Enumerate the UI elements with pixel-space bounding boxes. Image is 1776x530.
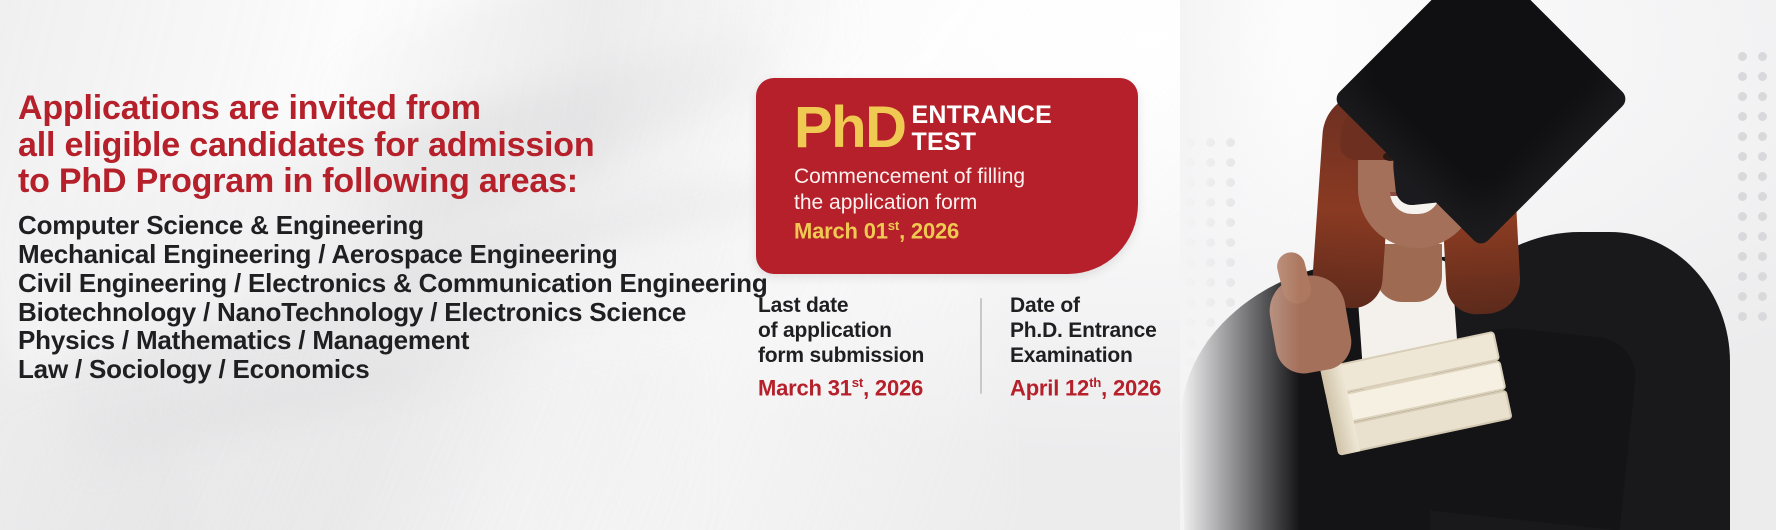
- phd-wordmark: PhD: [794, 101, 906, 154]
- headline: Applications are invited from all eligib…: [18, 90, 594, 200]
- list-item: Biotechnology / NanoTechnology / Electro…: [18, 298, 768, 327]
- list-item: Physics / Mathematics / Management: [18, 326, 768, 355]
- exam-date-text: April 12: [1010, 376, 1089, 401]
- entrance-test-label: ENTRANCE TEST: [912, 100, 1053, 155]
- neck-shape: [1376, 244, 1442, 302]
- last-date-rest: , 2026: [863, 376, 923, 401]
- list-item: Computer Science & Engineering: [18, 211, 768, 240]
- exam-date-label: Date of Ph.D. Entrance Examination: [1010, 294, 1202, 368]
- list-item: Law / Sociology / Economics: [18, 355, 768, 384]
- exam-date-ordinal: th: [1089, 375, 1101, 390]
- last-date-column: Last date of application form submission…: [758, 294, 966, 402]
- photo-edge-fade: [1180, 0, 1300, 530]
- test-label: TEST: [912, 129, 1053, 156]
- card-subtitle: Commencement of filling the application …: [756, 155, 1138, 215]
- phd-entrance-test-banner: Applications are invited from all eligib…: [0, 0, 1776, 530]
- graduate-student-photo: [1180, 0, 1776, 530]
- key-dates-row: Last date of application form submission…: [758, 294, 1202, 402]
- exam-date-rest: , 2026: [1101, 376, 1161, 401]
- list-item: Civil Engineering / Electronics & Commun…: [18, 269, 768, 298]
- last-date-text: March 31: [758, 376, 852, 401]
- program-areas-list: Computer Science & Engineering Mechanica…: [18, 211, 768, 384]
- card-title-row: PhD ENTRANCE TEST: [756, 78, 1138, 155]
- last-date-value: March 31st, 2026: [758, 375, 966, 401]
- exam-date-column: Date of Ph.D. Entrance Examination April…: [982, 294, 1202, 402]
- list-item: Mechanical Engineering / Aerospace Engin…: [18, 240, 768, 269]
- commencement-date-text: March 01: [794, 219, 888, 244]
- commencement-date-rest: , 2026: [899, 219, 959, 244]
- exam-date-value: April 12th, 2026: [1010, 375, 1202, 401]
- last-date-ordinal: st: [852, 375, 863, 390]
- last-date-label: Last date of application form submission: [758, 294, 966, 368]
- commencement-date-ordinal: st: [888, 218, 899, 233]
- commencement-date: March 01st, 2026: [756, 215, 1138, 244]
- phd-entrance-test-card: PhD ENTRANCE TEST Commencement of fillin…: [756, 78, 1138, 274]
- entrance-label: ENTRANCE: [912, 102, 1053, 129]
